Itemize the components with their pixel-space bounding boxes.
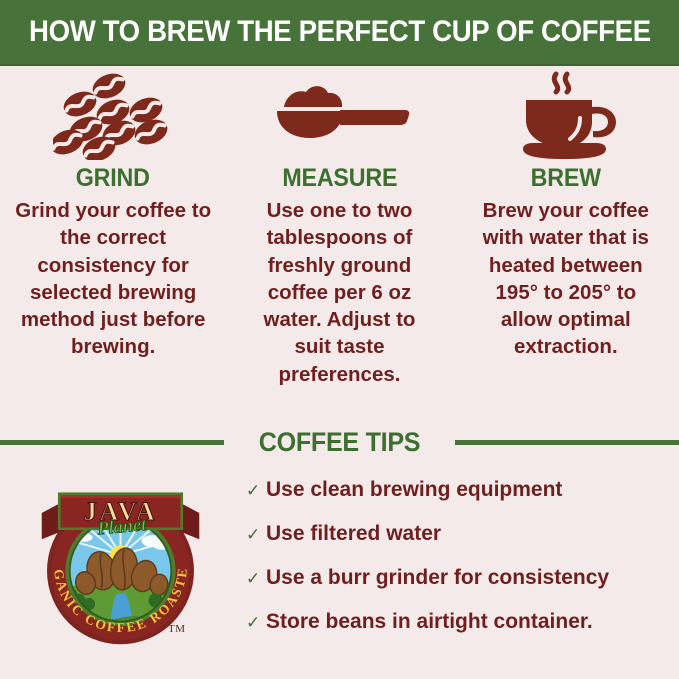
step-title-grind: GRIND bbox=[76, 166, 150, 191]
divider-rule-right bbox=[455, 440, 679, 445]
step-brew: BREW Brew your coffee with water that is… bbox=[453, 70, 679, 361]
page-title: HOW TO BREW THE PERFECT CUP OF COFFEE bbox=[29, 17, 651, 47]
divider-rule-left bbox=[0, 440, 224, 445]
list-item: ✓ Use clean brewing equipment bbox=[246, 478, 679, 501]
check-icon: ✓ bbox=[246, 526, 266, 543]
check-icon: ✓ bbox=[246, 570, 266, 587]
tip-text: Use filtered water bbox=[266, 522, 441, 545]
step-body-measure: Use one to two tablespoons of freshly gr… bbox=[250, 197, 428, 388]
header-banner: HOW TO BREW THE PERFECT CUP OF COFFEE bbox=[0, 0, 679, 66]
coffee-scoop-icon bbox=[234, 70, 444, 162]
steps-row: GRIND Grind your coffee to the correct c… bbox=[0, 70, 679, 388]
bottom-section: ORGANIC COFFEE ROASTERS JAVA Planet TM ✓… bbox=[0, 470, 679, 679]
step-measure: MEASURE Use one to two tablespoons of fr… bbox=[226, 70, 452, 388]
coffee-cup-icon bbox=[461, 70, 671, 162]
check-icon: ✓ bbox=[246, 482, 266, 499]
tips-divider: COFFEE TIPS bbox=[0, 420, 679, 464]
step-body-grind: Grind your coffee to the correct consist… bbox=[11, 197, 216, 361]
check-icon: ✓ bbox=[246, 614, 266, 631]
tip-text: Use a burr grinder for consistency bbox=[266, 566, 609, 589]
list-item: ✓ Store beans in airtight container. bbox=[246, 610, 679, 633]
step-title-measure: MEASURE bbox=[282, 166, 397, 191]
tip-text: Store beans in airtight container. bbox=[266, 610, 593, 633]
trademark-mark: TM bbox=[168, 623, 186, 635]
list-item: ✓ Use filtered water bbox=[246, 522, 679, 545]
tips-list: ✓ Use clean brewing equipment ✓ Use filt… bbox=[240, 470, 679, 654]
infographic-root: HOW TO BREW THE PERFECT CUP OF COFFEE bbox=[0, 0, 679, 679]
java-planet-logo: ORGANIC COFFEE ROASTERS JAVA Planet TM bbox=[0, 470, 240, 653]
tips-section-title: COFFEE TIPS bbox=[232, 429, 447, 456]
step-title-brew: BREW bbox=[531, 166, 601, 191]
coffee-beans-icon bbox=[8, 70, 218, 162]
tip-text: Use clean brewing equipment bbox=[266, 478, 562, 501]
list-item: ✓ Use a burr grinder for consistency bbox=[246, 566, 679, 589]
step-body-brew: Brew your coffee with water that is heat… bbox=[468, 197, 664, 361]
step-grind: GRIND Grind your coffee to the correct c… bbox=[0, 70, 226, 361]
